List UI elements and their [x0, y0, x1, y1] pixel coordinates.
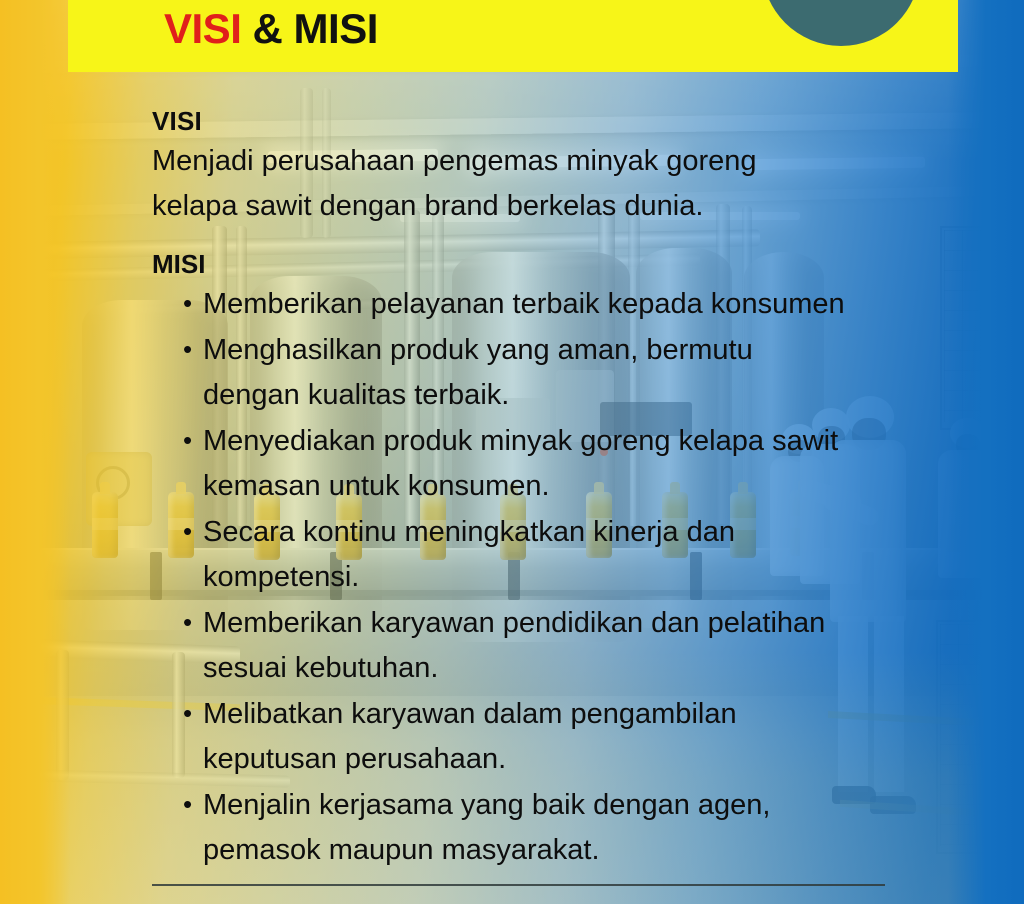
- visi-heading: VISI: [152, 106, 894, 137]
- visi-paragraph: Menjadi perusahaan pengemas minyak goren…: [152, 139, 894, 229]
- right-edge-gradient: [948, 0, 1024, 904]
- list-item: Memberikan karyawan pendidikan dan pelat…: [183, 601, 894, 691]
- misi-item-line-2: keputusan perusahaan.: [203, 737, 894, 782]
- slide-canvas: VISI & MISI VISI Menjadi perusahaan peng…: [0, 0, 1024, 904]
- misi-item-line-1: Menghasilkan produk yang aman, bermutu: [203, 334, 753, 366]
- misi-item-line-2: kompetensi.: [203, 555, 894, 600]
- misi-item-line-1: Menjalin kerjasama yang baik dengan agen…: [203, 789, 770, 821]
- misi-list: Memberikan pelayanan terbaik kepada kons…: [152, 282, 894, 873]
- list-item: Menjalin kerjasama yang baik dengan agen…: [183, 783, 894, 873]
- misi-item-line-1: Secara kontinu meningkatkan kinerja dan: [203, 516, 735, 548]
- list-item: Menyediakan produk minyak goreng kelapa …: [183, 419, 894, 509]
- list-item: Menghasilkan produk yang aman, bermutu d…: [183, 328, 894, 418]
- misi-item-line-1: Memberikan karyawan pendidikan dan pelat…: [203, 607, 825, 639]
- misi-item-line-2: kemasan untuk konsumen.: [203, 464, 894, 509]
- misi-heading: MISI: [152, 249, 894, 280]
- list-item: Memberikan pelayanan terbaik kepada kons…: [183, 282, 894, 327]
- misi-item-line-2: sesuai kebutuhan.: [203, 646, 894, 691]
- left-edge-gradient: [0, 0, 70, 904]
- misi-item-line-2: dengan kualitas terbaik.: [203, 373, 894, 418]
- list-item: Secara kontinu meningkatkan kinerja dan …: [183, 510, 894, 600]
- list-item: Melibatkan karyawan dalam pengambilan ke…: [183, 692, 894, 782]
- page-title: VISI & MISI: [164, 0, 378, 58]
- content-body: VISI Menjadi perusahaan pengemas minyak …: [152, 106, 894, 874]
- page-title-rest: & MISI: [241, 5, 378, 52]
- misi-item-line-1: Memberikan pelayanan terbaik kepada kons…: [203, 288, 845, 320]
- visi-line-2: kelapa sawit dengan brand berkelas dunia…: [152, 184, 894, 229]
- bottom-divider: [152, 884, 885, 886]
- visi-line-1: Menjadi perusahaan pengemas minyak goren…: [152, 145, 757, 177]
- misi-item-line-1: Melibatkan karyawan dalam pengambilan: [203, 698, 737, 730]
- misi-item-line-2: pemasok maupun masyarakat.: [203, 828, 894, 873]
- misi-item-line-1: Menyediakan produk minyak goreng kelapa …: [203, 425, 838, 457]
- page-title-accent: VISI: [164, 5, 241, 52]
